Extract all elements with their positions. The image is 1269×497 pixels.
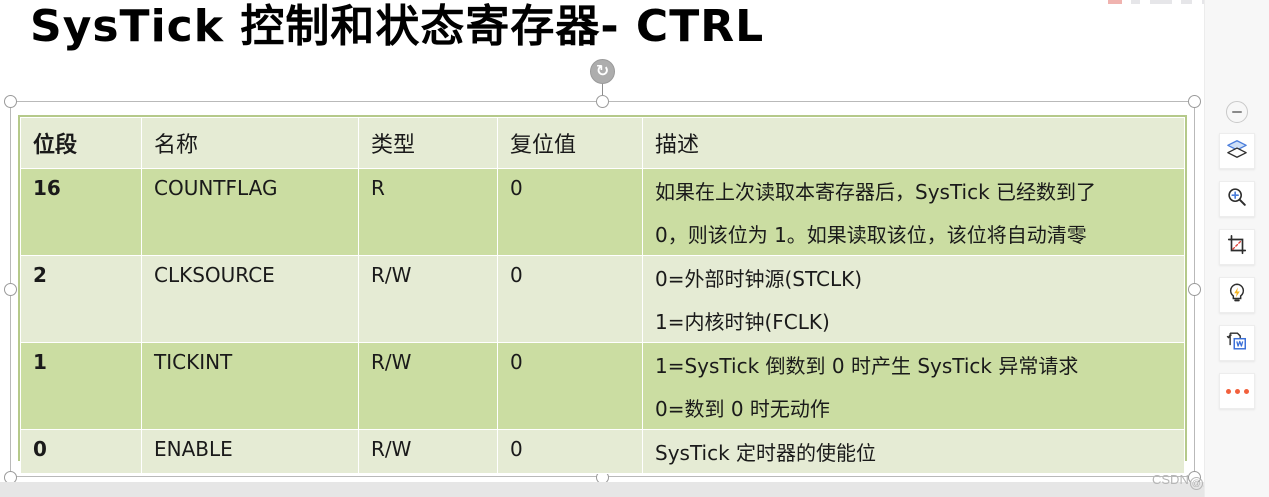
table-row[interactable]: 1 TICKINT R/W 0 1=SysTick 倒数到 0 时产生 SysT… <box>21 343 1185 430</box>
cell-type: R <box>359 169 498 256</box>
column-header-desc: 描述 <box>643 118 1185 169</box>
cell-desc: 如果在上次读取本寄存器后，SysTick 已经数到了 0，则该位为 1。如果读取… <box>643 169 1185 256</box>
bottom-strip <box>0 482 1205 497</box>
watermark-prefix: CSDN <box>1152 472 1189 487</box>
desc-line-2: 0=数到 0 时无动作 <box>655 393 1174 422</box>
right-toolbar[interactable] <box>1204 0 1269 497</box>
cell-name: ENABLE <box>142 430 359 474</box>
cell-bit: 16 <box>21 169 142 256</box>
export-word-button[interactable] <box>1219 325 1255 361</box>
desc-line-1: 0=外部时钟源(STCLK) <box>655 267 862 291</box>
page-title: SysTick 控制和状态寄存器- CTRL <box>30 0 764 56</box>
watermark-at-icon: @ <box>1190 477 1203 490</box>
cell-reset: 0 <box>498 256 643 343</box>
slide-canvas[interactable]: SysTick 控制和状态寄存器- CTRL ↻ 位段 名称 类型 复位值 描述… <box>0 0 1205 497</box>
cell-reset: 0 <box>498 343 643 430</box>
register-table[interactable]: 位段 名称 类型 复位值 描述 16 COUNTFLAG R 0 如果在上次读取… <box>20 117 1185 474</box>
lightbulb-icon <box>1226 282 1248 309</box>
cell-reset: 0 <box>498 430 643 474</box>
desc-line-2: 0，则该位为 1。如果读取该位，该位将自动清零 <box>655 219 1174 248</box>
selection-handle-top-left[interactable] <box>4 95 17 108</box>
column-header-name: 名称 <box>142 118 359 169</box>
table-row[interactable]: 0 ENABLE R/W 0 SysTick 定时器的使能位 <box>21 430 1185 474</box>
column-header-reset: 复位值 <box>498 118 643 169</box>
zoom-in-button[interactable] <box>1219 181 1255 217</box>
cell-desc: 0=外部时钟源(STCLK) 1=内核时钟(FCLK) <box>643 256 1185 343</box>
column-header-bit: 位段 <box>21 118 142 169</box>
watermark: CSDN@_She001 <box>1152 472 1205 490</box>
column-header-type: 类型 <box>359 118 498 169</box>
cell-type: R/W <box>359 343 498 430</box>
cell-type: R/W <box>359 430 498 474</box>
selection-handle-middle-left[interactable] <box>4 283 17 296</box>
cell-name: COUNTFLAG <box>142 169 359 256</box>
desc-line-1: 如果在上次读取本寄存器后，SysTick 已经数到了 <box>655 180 1096 204</box>
cell-bit: 1 <box>21 343 142 430</box>
selection-handle-top-center[interactable] <box>596 95 609 108</box>
desc-line-2: 1=内核时钟(FCLK) <box>655 306 1174 335</box>
rotate-handle[interactable]: ↻ <box>590 59 615 84</box>
table-header-row: 位段 名称 类型 复位值 描述 <box>21 118 1185 169</box>
top-cropped-banner <box>1108 0 1205 7</box>
more-options-icon <box>1226 389 1249 394</box>
cell-name: TICKINT <box>142 343 359 430</box>
selection-handle-top-right[interactable] <box>1188 95 1201 108</box>
selection-handle-middle-right[interactable] <box>1188 283 1201 296</box>
crop-button[interactable] <box>1219 229 1255 265</box>
crop-icon <box>1226 234 1248 261</box>
cell-bit: 0 <box>21 430 142 474</box>
desc-line-1: 1=SysTick 倒数到 0 时产生 SysTick 异常请求 <box>655 354 1078 378</box>
cell-bit: 2 <box>21 256 142 343</box>
smart-tool-button[interactable] <box>1219 277 1255 313</box>
cell-desc: 1=SysTick 倒数到 0 时产生 SysTick 异常请求 0=数到 0 … <box>643 343 1185 430</box>
layers-button[interactable] <box>1219 133 1255 169</box>
cell-name: CLKSOURCE <box>142 256 359 343</box>
cell-type: R/W <box>359 256 498 343</box>
cell-desc: SysTick 定时器的使能位 <box>643 430 1185 474</box>
word-export-icon <box>1226 330 1248 357</box>
zoom-in-icon <box>1226 186 1248 213</box>
layers-icon <box>1226 138 1248 165</box>
cell-reset: 0 <box>498 169 643 256</box>
table-row[interactable]: 16 COUNTFLAG R 0 如果在上次读取本寄存器后，SysTick 已经… <box>21 169 1185 256</box>
minus-icon <box>1232 111 1242 113</box>
table-row[interactable]: 2 CLKSOURCE R/W 0 0=外部时钟源(STCLK) 1=内核时钟(… <box>21 256 1185 343</box>
more-options-button[interactable] <box>1219 373 1255 409</box>
collapse-panel-button[interactable] <box>1226 101 1248 123</box>
